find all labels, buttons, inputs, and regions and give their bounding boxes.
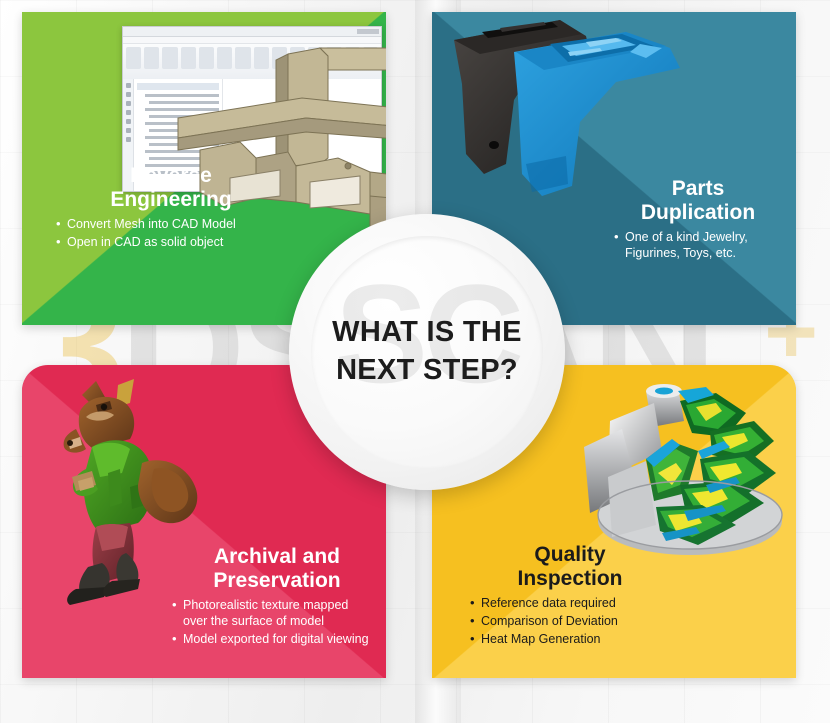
list-item: Reference data required xyxy=(470,596,690,612)
panel-title-line-2: Inspection xyxy=(470,567,670,591)
list-item: Photorealistic texture mapped over the s… xyxy=(172,598,382,630)
panel-title-line-2: Preservation xyxy=(172,569,382,593)
panel-bullet-list: Convert Mesh into CAD Model Open in CAD … xyxy=(56,217,326,251)
panel-text-block: Parts Duplication One of a kind Jewelry,… xyxy=(608,177,788,264)
panel-bullet-list: One of a kind Jewelry, Figurines, Toys, … xyxy=(614,230,788,262)
list-item: Heat Map Generation xyxy=(470,632,690,648)
list-item: Open in CAD as solid object xyxy=(56,235,326,251)
list-item-line-1: One of a kind Jewelry, xyxy=(625,230,748,244)
panel-title-line-2: Engineering xyxy=(56,188,286,212)
panel-title-line-1: Archival and xyxy=(172,545,382,569)
panel-title-line-1: Quality xyxy=(470,543,670,567)
list-item-line-2: Figurines, Toys, etc. xyxy=(625,246,736,260)
infographic-canvas: 3DSCAN + xyxy=(0,0,830,723)
panel-text-block: Quality Inspection Reference data requir… xyxy=(470,543,690,649)
panel-title-line-1: Reverse xyxy=(56,164,286,188)
list-item: Model exported for digital viewing xyxy=(172,632,382,648)
page-title-line-1: WHAT IS THE xyxy=(332,316,522,348)
panel-title: Archival and Preservation xyxy=(172,545,382,592)
panel-bullet-list: Reference data required Comparison of De… xyxy=(470,596,690,647)
panel-title-line-2: Duplication xyxy=(608,201,788,225)
list-item: Comparison of Deviation xyxy=(470,614,690,630)
page-title: WHAT IS THE NEXT STEP? xyxy=(310,314,544,389)
panel-bullet-list: Photorealistic texture mapped over the s… xyxy=(172,598,382,647)
panel-text-block: Reverse Engineering Convert Mesh into CA… xyxy=(56,164,326,253)
panel-title: Parts Duplication xyxy=(608,177,788,224)
panel-title: Reverse Engineering xyxy=(56,164,286,211)
list-item-line-2: over the surface of model xyxy=(183,614,324,628)
panel-title: Quality Inspection xyxy=(470,543,670,590)
list-item: One of a kind Jewelry, Figurines, Toys, … xyxy=(614,230,788,262)
cad-menu-bar xyxy=(123,37,381,44)
panel-title-line-1: Parts xyxy=(608,177,788,201)
cad-title-bar xyxy=(123,27,381,37)
list-item-line-1: Photorealistic texture mapped xyxy=(183,598,348,612)
list-item: Convert Mesh into CAD Model xyxy=(56,217,326,233)
panel-text-block: Archival and Preservation Photorealistic… xyxy=(172,545,382,649)
page-title-line-2: NEXT STEP? xyxy=(336,354,518,386)
center-hub-circle: SC WHAT IS THE NEXT STEP? xyxy=(289,214,565,490)
